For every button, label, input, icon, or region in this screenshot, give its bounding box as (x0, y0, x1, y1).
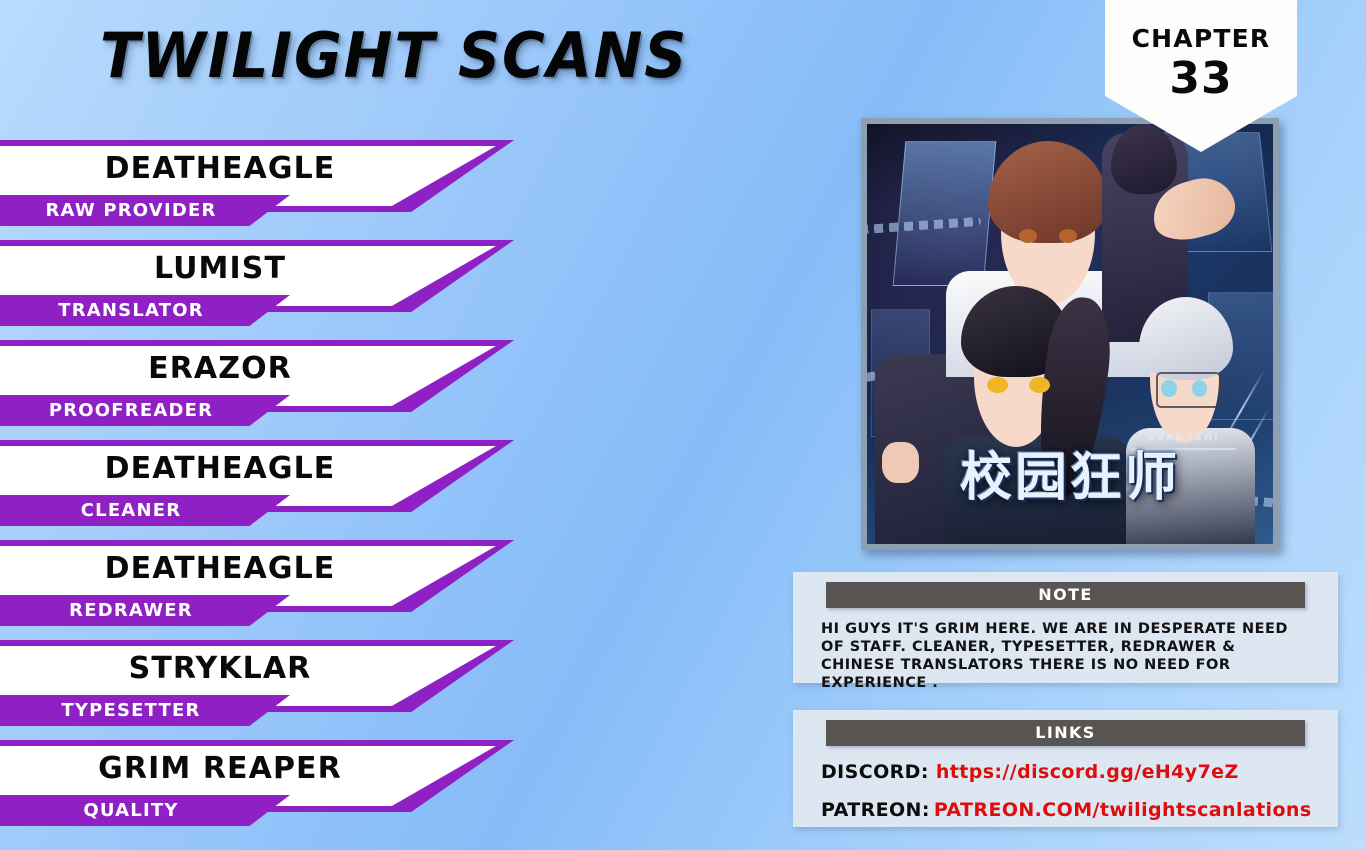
chapter-number: 33 (1105, 56, 1297, 102)
discord-link-row: DISCORD:https://discord.gg/eH4y7eZ (821, 760, 1310, 784)
cover-title: 校园狂师 (908, 450, 1233, 506)
credit-row: LUMIST TRANSLATOR (0, 240, 540, 340)
credit-role: TYPESETTER (0, 699, 262, 722)
patreon-link-row: PATREON:PATREON.COM/twilightscanlations (821, 798, 1310, 822)
credit-row: GRIM REAPER QUALITY (0, 740, 540, 840)
credit-name: GRIM REAPER (0, 752, 440, 786)
credit-name: LUMIST (0, 252, 440, 286)
note-panel: NOTE HI GUYS IT'S GRIM HERE. WE ARE IN D… (793, 572, 1338, 683)
patreon-label: PATREON: (821, 799, 930, 821)
credit-name: STRYKLAR (0, 652, 440, 686)
credit-row: ERAZOR PROOFREADER (0, 340, 540, 440)
discord-label: DISCORD: (821, 761, 929, 783)
credits-list: DEATHEAGLE RAW PROVIDER LUMIST TRANSLATO… (0, 140, 540, 840)
cover-title-romanized: KUANGSHI (1147, 433, 1220, 443)
character-hair (988, 141, 1108, 243)
character-hair (1139, 297, 1233, 380)
credit-row: DEATHEAGLE RAW PROVIDER (0, 140, 540, 240)
cover-art: KUANGSHI 校园狂师 (867, 124, 1273, 544)
character-eye (1059, 229, 1077, 243)
credit-row: DEATHEAGLE CLEANER (0, 440, 540, 540)
cover-frame: KUANGSHI 校园狂师 (861, 118, 1279, 550)
credit-role: REDRAWER (0, 599, 262, 622)
credit-name: DEATHEAGLE (0, 452, 440, 486)
discord-url[interactable]: https://discord.gg/eH4y7eZ (936, 761, 1239, 783)
note-body: HI GUYS IT'S GRIM HERE. WE ARE IN DESPER… (821, 620, 1310, 692)
credit-role: PROOFREADER (0, 399, 262, 422)
credit-role: TRANSLATOR (0, 299, 262, 322)
credit-row: STRYKLAR TYPESETTER (0, 640, 540, 740)
links-panel: LINKS DISCORD:https://discord.gg/eH4y7eZ… (793, 710, 1338, 827)
credit-role: RAW PROVIDER (0, 199, 262, 222)
patreon-url[interactable]: PATREON.COM/twilightscanlations (934, 799, 1312, 821)
credit-name: ERAZOR (0, 352, 440, 386)
links-heading: LINKS (826, 720, 1305, 746)
credit-name: DEATHEAGLE (0, 552, 440, 586)
credit-name: DEATHEAGLE (0, 152, 440, 186)
page-title: TWILIGHT SCANS (100, 22, 688, 90)
credit-role: CLEANER (0, 499, 262, 522)
credit-row: DEATHEAGLE REDRAWER (0, 540, 540, 640)
credit-role: QUALITY (0, 799, 262, 822)
glasses-icon (1156, 372, 1221, 408)
character-eye (1019, 229, 1037, 243)
chapter-label: CHAPTER (1105, 24, 1297, 53)
credits-page: TWILIGHT SCANS CHAPTER 33 DEATHEAGLE RAW… (0, 0, 1366, 850)
note-heading: NOTE (826, 582, 1305, 608)
